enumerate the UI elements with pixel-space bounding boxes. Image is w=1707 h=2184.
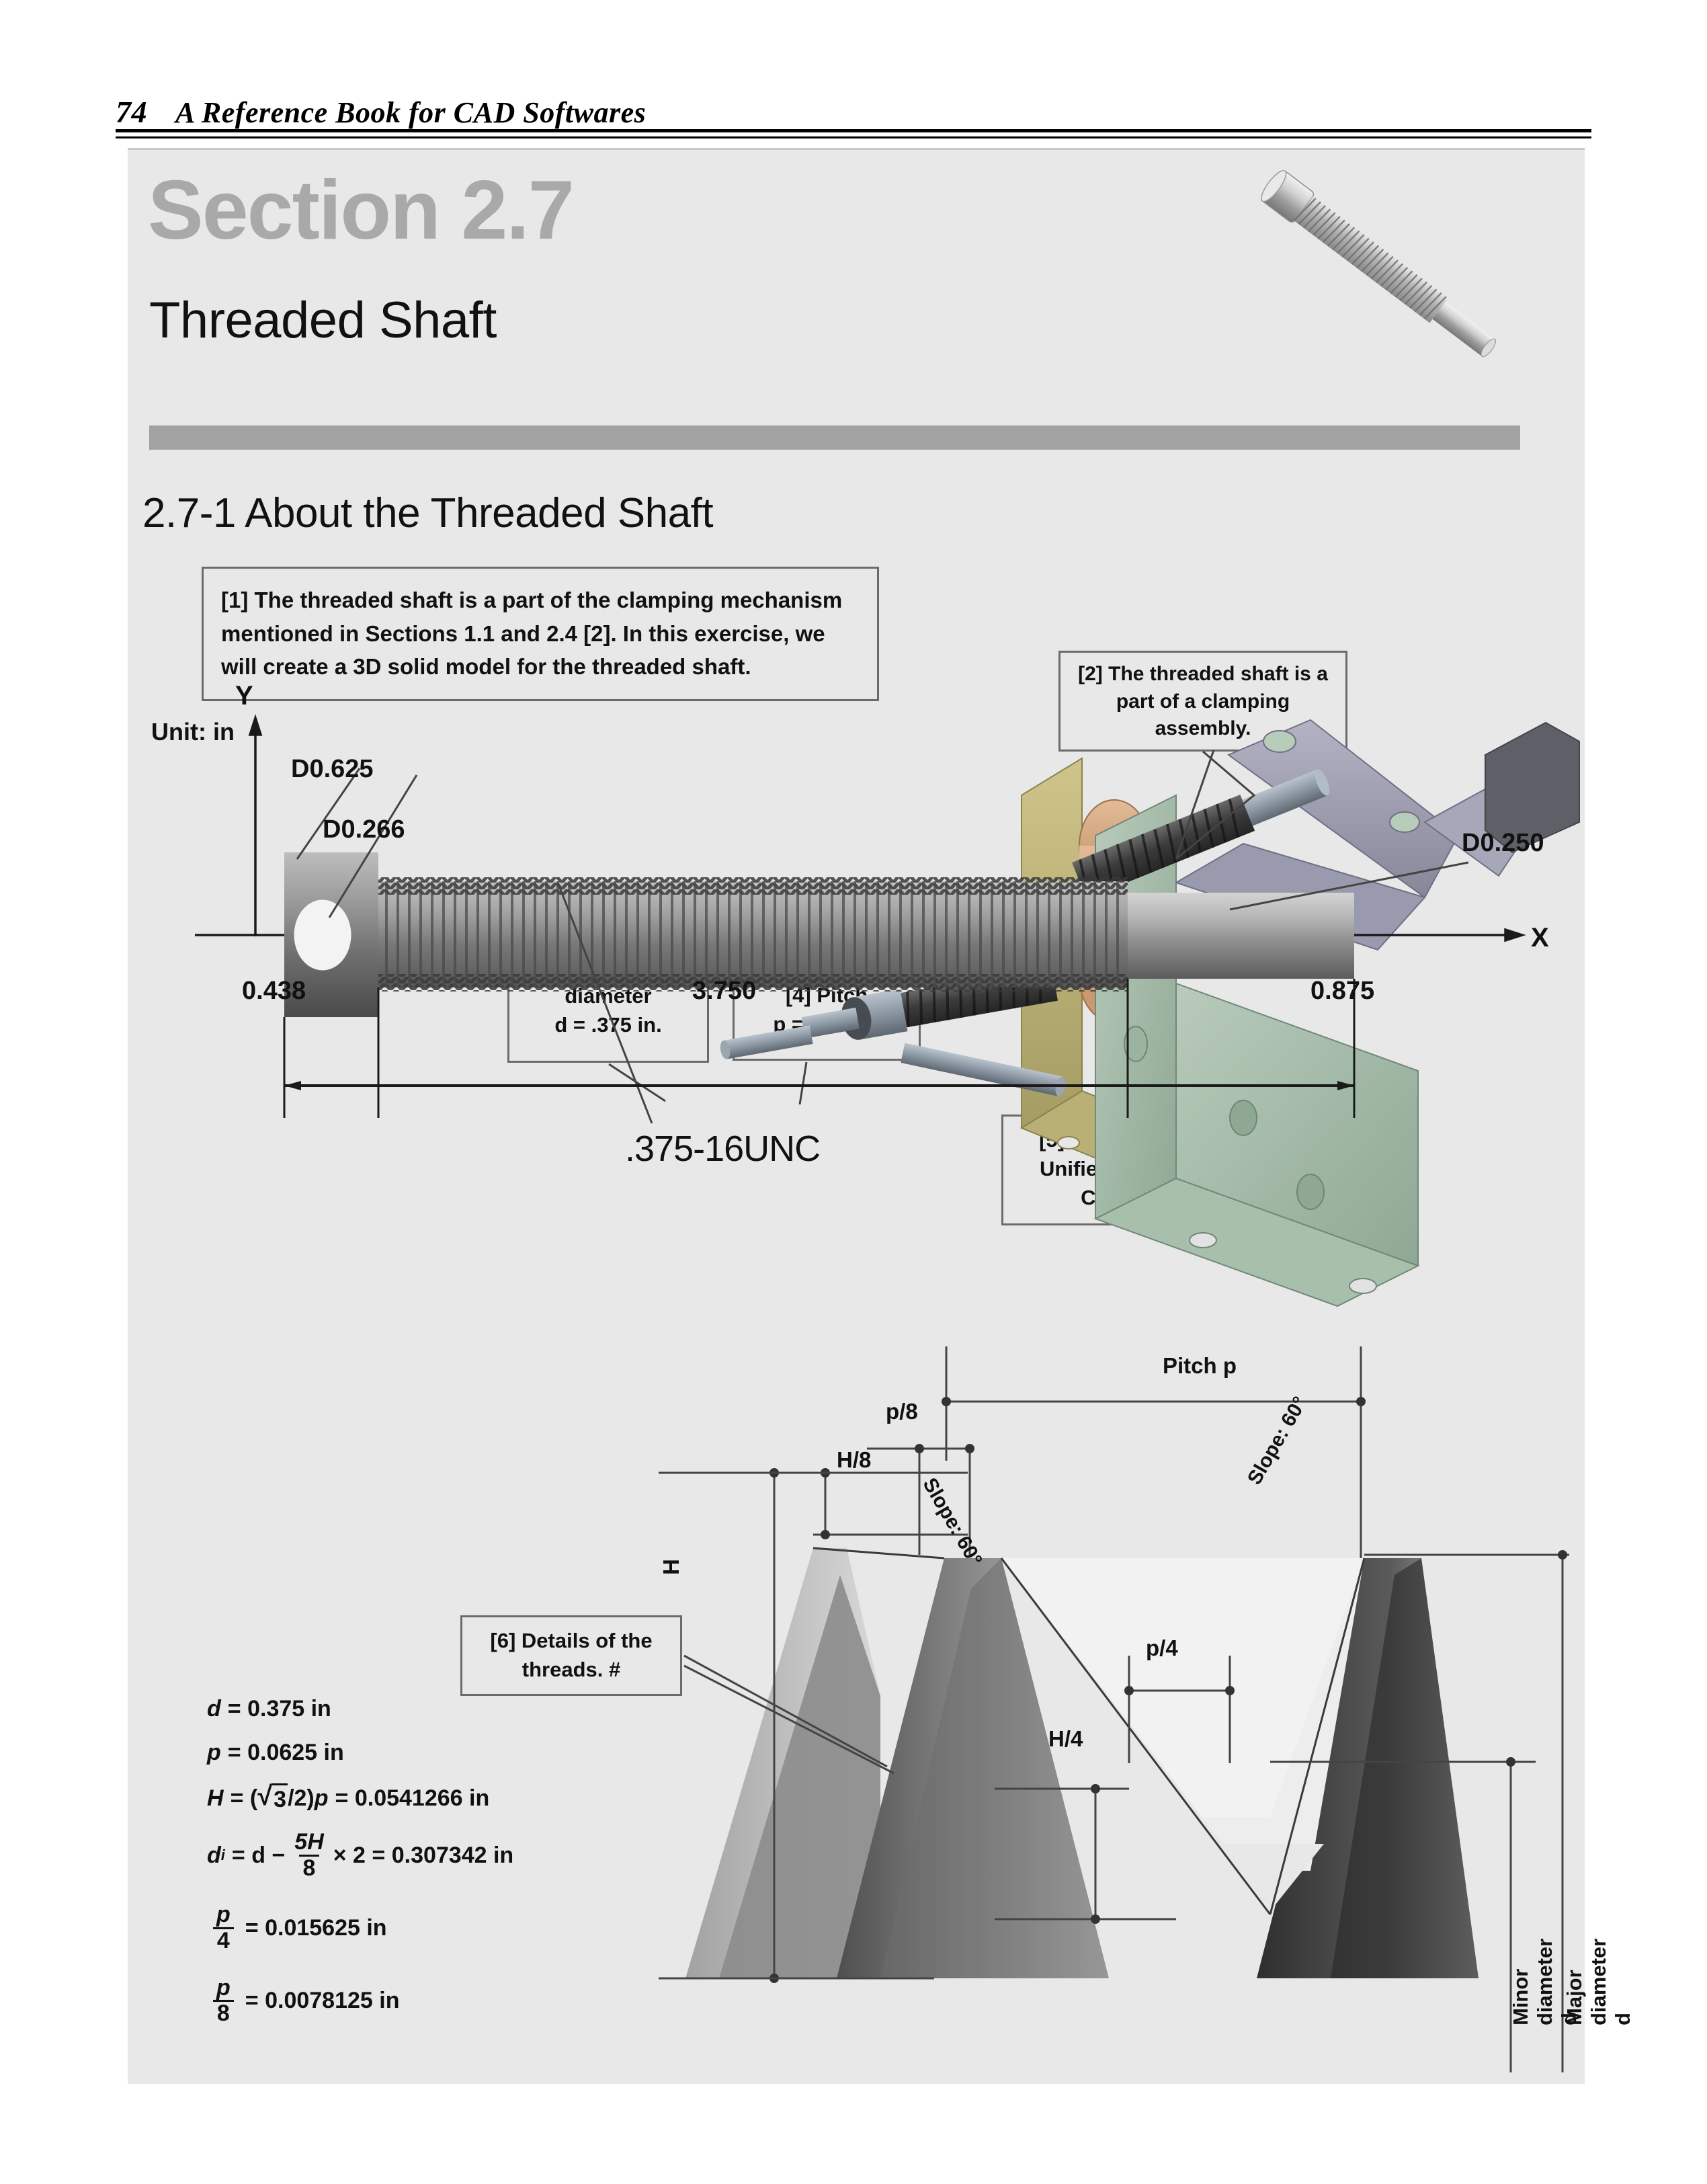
- section-divider-bar: [149, 426, 1520, 450]
- page-number: 74: [116, 94, 147, 130]
- label-slope-left: Slope: 60°: [918, 1474, 987, 1570]
- running-head: 74 A Reference Book for CAD Softwares: [116, 94, 1591, 130]
- dimension-head-diameter: D0.625: [291, 755, 374, 784]
- subsection-heading: 2.7-1 About the Threaded Shaft: [142, 489, 713, 537]
- callout-5-text: [5] Thread form: Unified National Coarse…: [1003, 1117, 1235, 1221]
- label-h-over-8: H/8: [837, 1447, 871, 1473]
- header-rule-bottom: [116, 136, 1591, 138]
- section-number-title: Section 2.7: [148, 169, 573, 252]
- dimension-shank-length: 0.875: [1310, 977, 1374, 1006]
- axis-label-x: X: [1531, 923, 1549, 953]
- callout-6: [6] Details of the threads. #: [460, 1615, 682, 1696]
- callout-3-text: [3] Major diameter d = .375 in.: [509, 944, 707, 1049]
- threaded-shaft-render-icon: [1208, 157, 1558, 378]
- callout-2: [2] The threaded shaft is a part of a cl…: [1058, 651, 1347, 752]
- axis-label-y: Y: [235, 681, 253, 711]
- formula-H-symbol: H: [207, 1785, 224, 1812]
- formula-H-close: /2): [288, 1785, 315, 1812]
- unit-note: Unit: in: [151, 718, 235, 746]
- book-title: A Reference Book for CAD Softwares: [175, 95, 646, 130]
- formula-p8: p 8 = 0.0078125 in: [207, 1976, 664, 2026]
- formula-di-value: × 2 = 0.307342 in: [333, 1843, 513, 1869]
- formula-p4-numerator: p: [212, 1903, 235, 1927]
- formula-di-denominator: 8: [299, 1855, 320, 1881]
- label-h: H: [659, 1559, 684, 1575]
- callout-5: [5] Thread form: Unified National Coarse…: [1001, 1115, 1237, 1225]
- label-h-over-4: H/4: [1048, 1726, 1083, 1752]
- formula-di: di = d − 5H 8 × 2 = 0.307342 in: [207, 1830, 664, 1880]
- document-page: 74 A Reference Book for CAD Softwares Se…: [0, 0, 1707, 2184]
- dimension-hole-diameter: D0.266: [323, 815, 405, 844]
- formula-di-lhs-expr: = d −: [232, 1843, 285, 1869]
- dimension-shank-diameter: D0.250: [1462, 829, 1544, 858]
- formula-p4-fraction: p 4: [212, 1903, 235, 1953]
- formula-H-p: p: [315, 1785, 329, 1812]
- dimension-head-length: 0.438: [242, 977, 306, 1006]
- formula-p: p = 0.0625 in: [207, 1740, 664, 1766]
- label-p-over-8: p/8: [886, 1399, 918, 1424]
- formula-p8-denominator: 8: [213, 2000, 234, 2026]
- formula-p4: p 4 = 0.015625 in: [207, 1903, 664, 1953]
- formula-p8-value: = 0.0078125 in: [245, 1988, 400, 2014]
- formula-d-symbol: d: [207, 1696, 221, 1722]
- formula-di-subscript: i: [221, 1847, 225, 1864]
- callout-4: [4] Pitch p = 1/16 in.: [733, 970, 921, 1061]
- formula-p8-fraction: p 8: [212, 1976, 235, 2026]
- label-p-over-4: p/4: [1146, 1635, 1178, 1661]
- formula-p4-denominator: 4: [213, 1927, 234, 1953]
- callout-4-text: [4] Pitch p = 1/16 in.: [735, 972, 919, 1049]
- formula-d-value: = 0.375 in: [228, 1696, 331, 1722]
- formula-H-open: = (: [231, 1785, 258, 1812]
- thread-spec-label: .375-16UNC: [625, 1128, 820, 1170]
- formula-p4-value: = 0.015625 in: [245, 1915, 387, 1941]
- thread-formula-block: d = 0.375 in p = 0.0625 in H = ( √ 3 /2)…: [207, 1696, 664, 2049]
- callout-1-text: [1] The threaded shaft is a part of the …: [204, 569, 877, 698]
- label-pitch: Pitch p: [1163, 1353, 1237, 1379]
- header-rule-top: [116, 129, 1591, 132]
- callout-1: [1] The threaded shaft is a part of the …: [202, 567, 879, 701]
- callout-6-text: [6] Details of the threads. #: [462, 1617, 680, 1694]
- formula-di-fraction: 5H 8: [290, 1830, 327, 1880]
- formula-H-value: = 0.0541266 in: [335, 1785, 490, 1812]
- callout-3: [3] Major diameter d = .375 in.: [507, 942, 709, 1063]
- section-panel: Section 2.7 Threaded Shaft: [128, 148, 1585, 2084]
- dimension-threaded-length: 3.750: [692, 977, 756, 1006]
- formula-p-value: = 0.0625 in: [228, 1740, 344, 1766]
- formula-p8-numerator: p: [212, 1976, 235, 2000]
- formula-p-symbol: p: [207, 1740, 221, 1766]
- formula-d: d = 0.375 in: [207, 1696, 664, 1722]
- radical-sign: √: [257, 1783, 272, 1809]
- section-name: Threaded Shaft: [149, 291, 497, 350]
- formula-H: H = ( √ 3 /2) p = 0.0541266 in: [207, 1783, 664, 1813]
- label-slope-right: Slope: 60°: [1243, 1393, 1312, 1489]
- formula-H-radicand: 3: [272, 1783, 288, 1813]
- formula-H-sqrt: √ 3: [257, 1783, 288, 1813]
- callout-2-text: [2] The threaded shaft is a part of a cl…: [1060, 653, 1345, 751]
- formula-di-numerator: 5H: [290, 1830, 327, 1855]
- label-major-diameter: Major diameter d: [1563, 1939, 1635, 2025]
- formula-di-symbol: d: [207, 1843, 221, 1869]
